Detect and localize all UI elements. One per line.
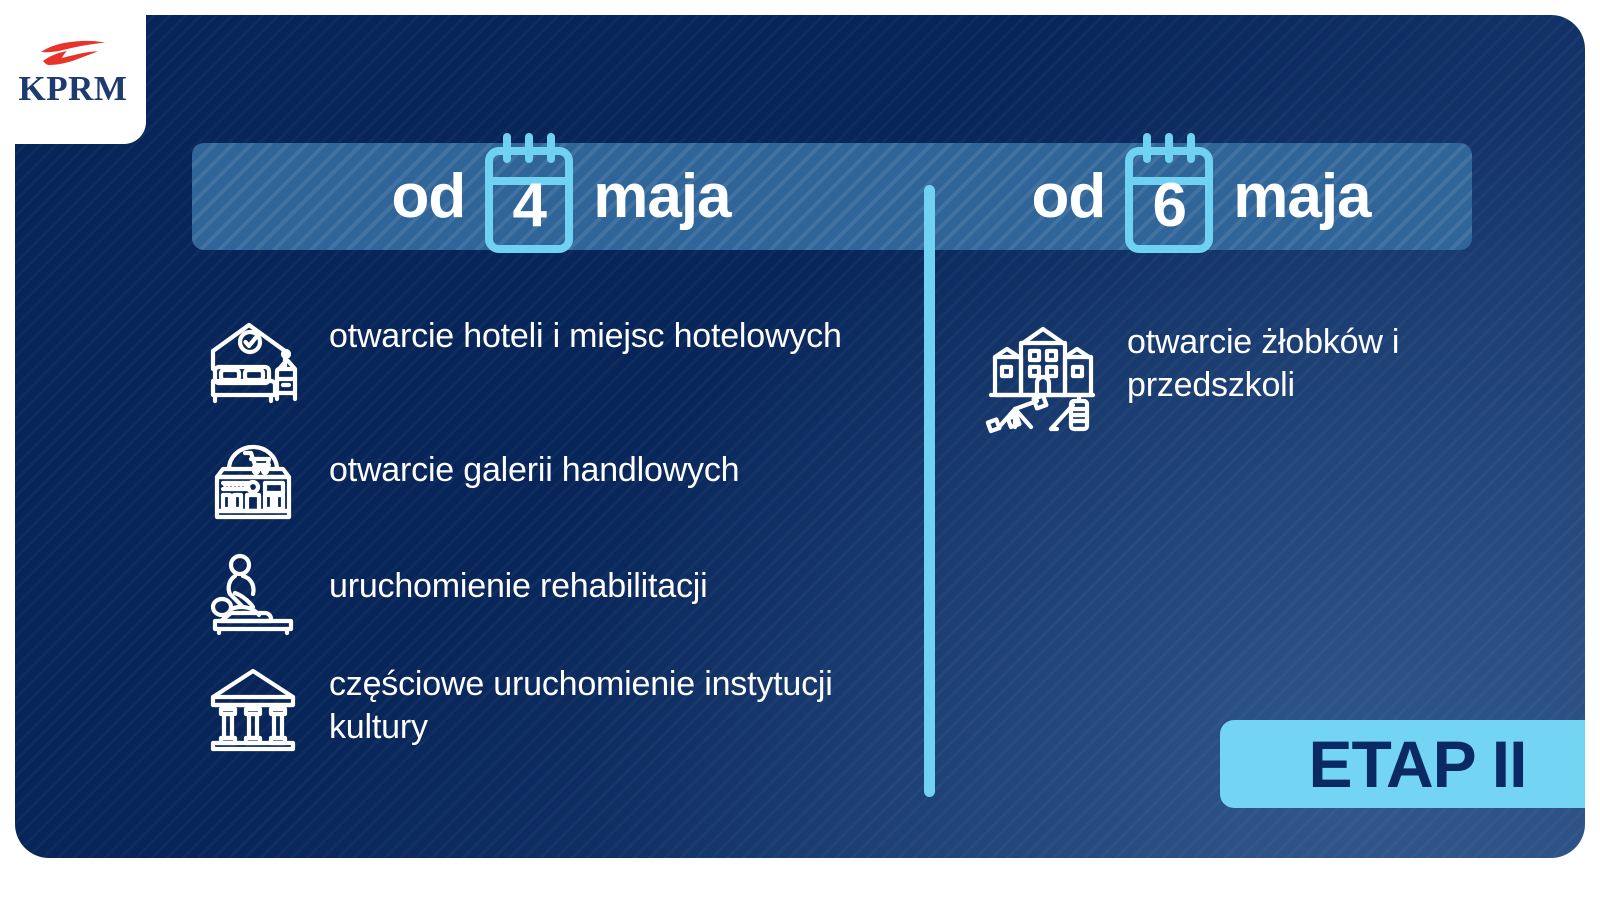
list-item: częściowe uruchomienie instytucji kultur… — [205, 659, 905, 755]
date-suffix: maja — [1233, 166, 1370, 228]
status-badge-label: ETAP II — [1309, 731, 1527, 797]
right-column: otwarcie żłobków i przedszkoli — [985, 321, 1455, 439]
list-item: uruchomienie rehabilitacji — [205, 543, 905, 639]
date-suffix: maja — [593, 166, 730, 228]
calendar-icon: 4 — [469, 133, 589, 261]
list-item: otwarcie galerii handlowych — [205, 427, 905, 523]
list-item-label: uruchomienie rehabilitacji — [329, 543, 707, 608]
calendar-icon: 6 — [1109, 133, 1229, 261]
rehabilitation-massage-icon — [205, 543, 301, 639]
status-badge: ETAP II — [1220, 720, 1585, 808]
list-item-label: częściowe uruchomienie instytucji kultur… — [329, 659, 905, 749]
left-column: otwarcie hoteli i miejsc hotelowych — [205, 311, 905, 755]
date-day: 4 — [512, 175, 545, 237]
date-group-4-maja: od 4 maja — [192, 143, 930, 250]
list-item-label: otwarcie żłobków i przedszkoli — [1127, 321, 1455, 407]
date-prefix: od — [391, 166, 465, 228]
culture-temple-icon — [205, 659, 301, 755]
date-group-6-maja: od 6 maja — [930, 143, 1472, 250]
date-line: od 4 maja — [391, 133, 730, 261]
main-card: od 4 maja od — [15, 15, 1585, 858]
date-prefix: od — [1031, 166, 1105, 228]
list-item: otwarcie żłobków i przedszkoli — [985, 321, 1455, 439]
nursery-school-playground-icon — [985, 321, 1099, 439]
infographic-root: od 4 maja od — [0, 0, 1600, 900]
date-line: od 6 maja — [1031, 133, 1370, 261]
shopping-mall-icon — [205, 427, 301, 523]
list-item-label: otwarcie hoteli i miejsc hotelowych — [329, 311, 842, 358]
hotel-bed-icon — [205, 311, 301, 407]
date-day: 6 — [1152, 175, 1185, 237]
list-item: otwarcie hoteli i miejsc hotelowych — [205, 311, 905, 407]
kprm-wordmark: KPRM — [19, 71, 128, 106]
list-item-label: otwarcie galerii handlowych — [329, 427, 739, 492]
polish-flag-icon — [37, 39, 109, 67]
kprm-logo: KPRM — [0, 0, 146, 144]
column-divider — [924, 185, 935, 797]
